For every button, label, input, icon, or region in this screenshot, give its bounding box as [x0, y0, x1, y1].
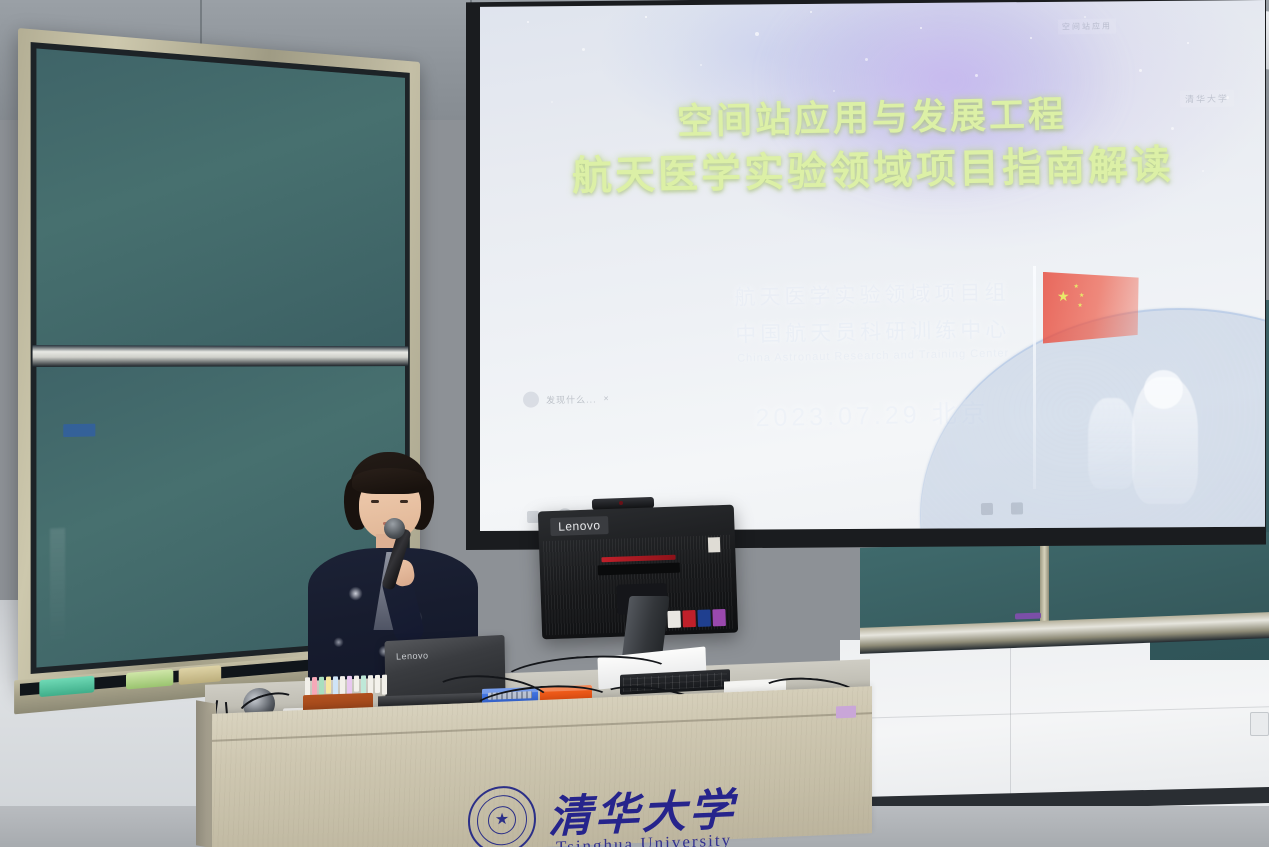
presenter-eye-left: [371, 500, 379, 503]
monitor-spec-sticker: [708, 537, 721, 552]
toast-app-icon: [523, 391, 539, 407]
flag-star-icon: ★: [1057, 289, 1070, 303]
chalkboard-upper-panel: [36, 48, 405, 352]
chalkboard-label-sticker: [63, 423, 95, 436]
university-seal-icon: ★: [468, 785, 536, 847]
chalkboard-divider-post: [1040, 538, 1049, 624]
lectern-asset-sticker: [836, 706, 856, 719]
label-red: [682, 610, 696, 627]
toast-close-icon[interactable]: ×: [604, 393, 609, 403]
flag-small-star-icon: ★: [1079, 293, 1084, 299]
desktop-toast-notification[interactable]: 发现什么... ×: [523, 390, 609, 407]
wall-panel-seam: [1010, 648, 1011, 798]
laptop-brand-logo: Lenovo: [396, 650, 429, 661]
tray-icon[interactable]: [981, 503, 993, 515]
chalkboard-middle-rail: [33, 345, 409, 367]
purple-marker[interactable]: [1015, 613, 1041, 620]
board-eraser-green[interactable]: [39, 676, 94, 697]
seal-star-icon: ★: [495, 812, 509, 829]
power-outlet[interactable]: [1250, 712, 1269, 736]
board-eraser-beige[interactable]: [179, 665, 222, 685]
chalk-residue: [50, 528, 65, 648]
tray-icon[interactable]: [1011, 503, 1023, 515]
label-blue: [697, 609, 711, 626]
label-white: [667, 611, 681, 628]
lecture-hall-photo: 空间站应用与发展工程 航天医学实验领域项目指南解读 航天医学实验领域项目组 中国…: [0, 0, 1269, 847]
label-purple: [712, 609, 726, 626]
china-flag-graphic: [1043, 272, 1139, 344]
toast-message: 发现什么...: [546, 392, 597, 406]
flag-small-star-icon: ★: [1077, 303, 1082, 309]
astronaut-secondary-graphic: [1088, 398, 1135, 488]
webcam-lens-icon: [619, 501, 623, 505]
board-eraser-light-green[interactable]: [126, 669, 173, 689]
monitor-certification-labels: [667, 609, 726, 628]
flag-small-star-icon: ★: [1073, 284, 1078, 290]
flagpole-graphic: [1033, 266, 1036, 489]
presenter-eye-right: [400, 500, 408, 503]
monitor-brand-logo: Lenovo: [550, 516, 609, 536]
presenter-fringe: [352, 468, 428, 494]
slide-title: 空间站应用与发展工程 航天医学实验领域项目指南解读: [480, 84, 1265, 207]
projection-screen: 空间站应用与发展工程 航天医学实验领域项目指南解读 航天医学实验领域项目组 中国…: [480, 0, 1265, 531]
slide-watermark-right: 清华大学: [1179, 90, 1233, 108]
slide-watermark-top: 空间站应用: [1058, 19, 1116, 35]
